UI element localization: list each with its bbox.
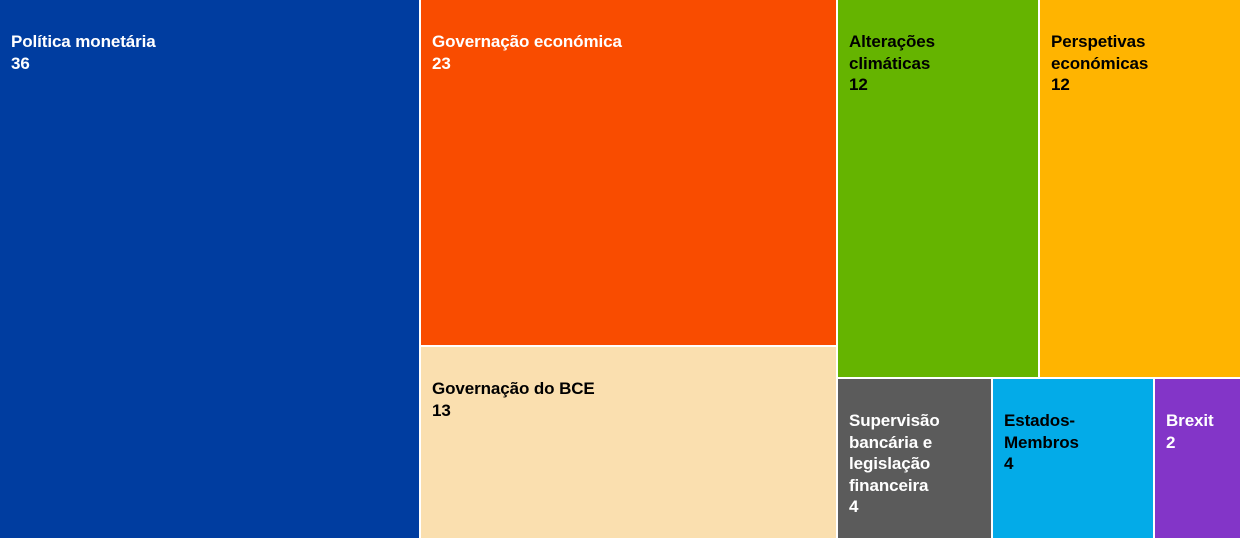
tile-value-supervisao-bancaria: 4 — [849, 496, 977, 517]
tile-value-governacao-do-bce: 13 — [432, 400, 812, 421]
tile-label-perspetivas-economicas: Perspetivas económicas — [1051, 32, 1148, 72]
tile-text-governacao-do-bce: Governação do BCE 13 — [432, 357, 812, 443]
treemap-tile-governacao-do-bce[interactable]: Governação do BCE 13 — [421, 347, 836, 538]
tile-value-perspetivas-economicas: 12 — [1051, 74, 1201, 95]
treemap-tile-perspetivas-economicas[interactable]: Perspetivas económicas 12 — [1040, 0, 1240, 377]
tile-text-perspetivas-economicas: Perspetivas económicas 12 — [1051, 10, 1201, 117]
treemap-tile-estados-membros[interactable]: Estados-Membros 4 — [993, 379, 1153, 538]
tile-label-estados-membros: Estados-Membros — [1004, 411, 1079, 451]
tile-text-governacao-economica: Governação económica 23 — [432, 10, 812, 96]
tile-value-brexit: 2 — [1166, 432, 1236, 453]
tile-value-alteracoes-climaticas: 12 — [849, 74, 999, 95]
tile-label-brexit: Brexit — [1166, 411, 1214, 430]
tile-label-governacao-do-bce: Governação do BCE — [432, 379, 595, 398]
tile-label-politica-monetaria: Política monetária — [11, 32, 156, 51]
treemap-tile-politica-monetaria[interactable]: Política monetária 36 — [0, 0, 419, 538]
tile-text-brexit: Brexit 2 — [1166, 389, 1236, 475]
tile-label-alteracoes-climaticas: Alterações climáticas — [849, 32, 935, 72]
tile-label-governacao-economica: Governação económica — [432, 32, 622, 51]
tile-text-supervisao-bancaria: Supervisão bancária e legislação finance… — [849, 389, 977, 538]
treemap-tile-alteracoes-climaticas[interactable]: Alterações climáticas 12 — [838, 0, 1038, 377]
tile-text-estados-membros: Estados-Membros 4 — [1004, 389, 1132, 496]
tile-text-politica-monetaria: Política monetária 36 — [11, 10, 411, 96]
tile-text-alteracoes-climaticas: Alterações climáticas 12 — [849, 10, 999, 117]
treemap-tile-brexit[interactable]: Brexit 2 — [1155, 379, 1240, 538]
tile-value-estados-membros: 4 — [1004, 453, 1132, 474]
treemap-tile-governacao-economica[interactable]: Governação económica 23 — [421, 0, 836, 345]
treemap-tile-supervisao-bancaria[interactable]: Supervisão bancária e legislação finance… — [838, 379, 991, 538]
tile-value-politica-monetaria: 36 — [11, 53, 411, 74]
tile-value-governacao-economica: 23 — [432, 53, 812, 74]
tile-label-supervisao-bancaria: Supervisão bancária e legislação finance… — [849, 411, 940, 494]
treemap-chart: Política monetária 36 Governação económi… — [0, 0, 1240, 542]
